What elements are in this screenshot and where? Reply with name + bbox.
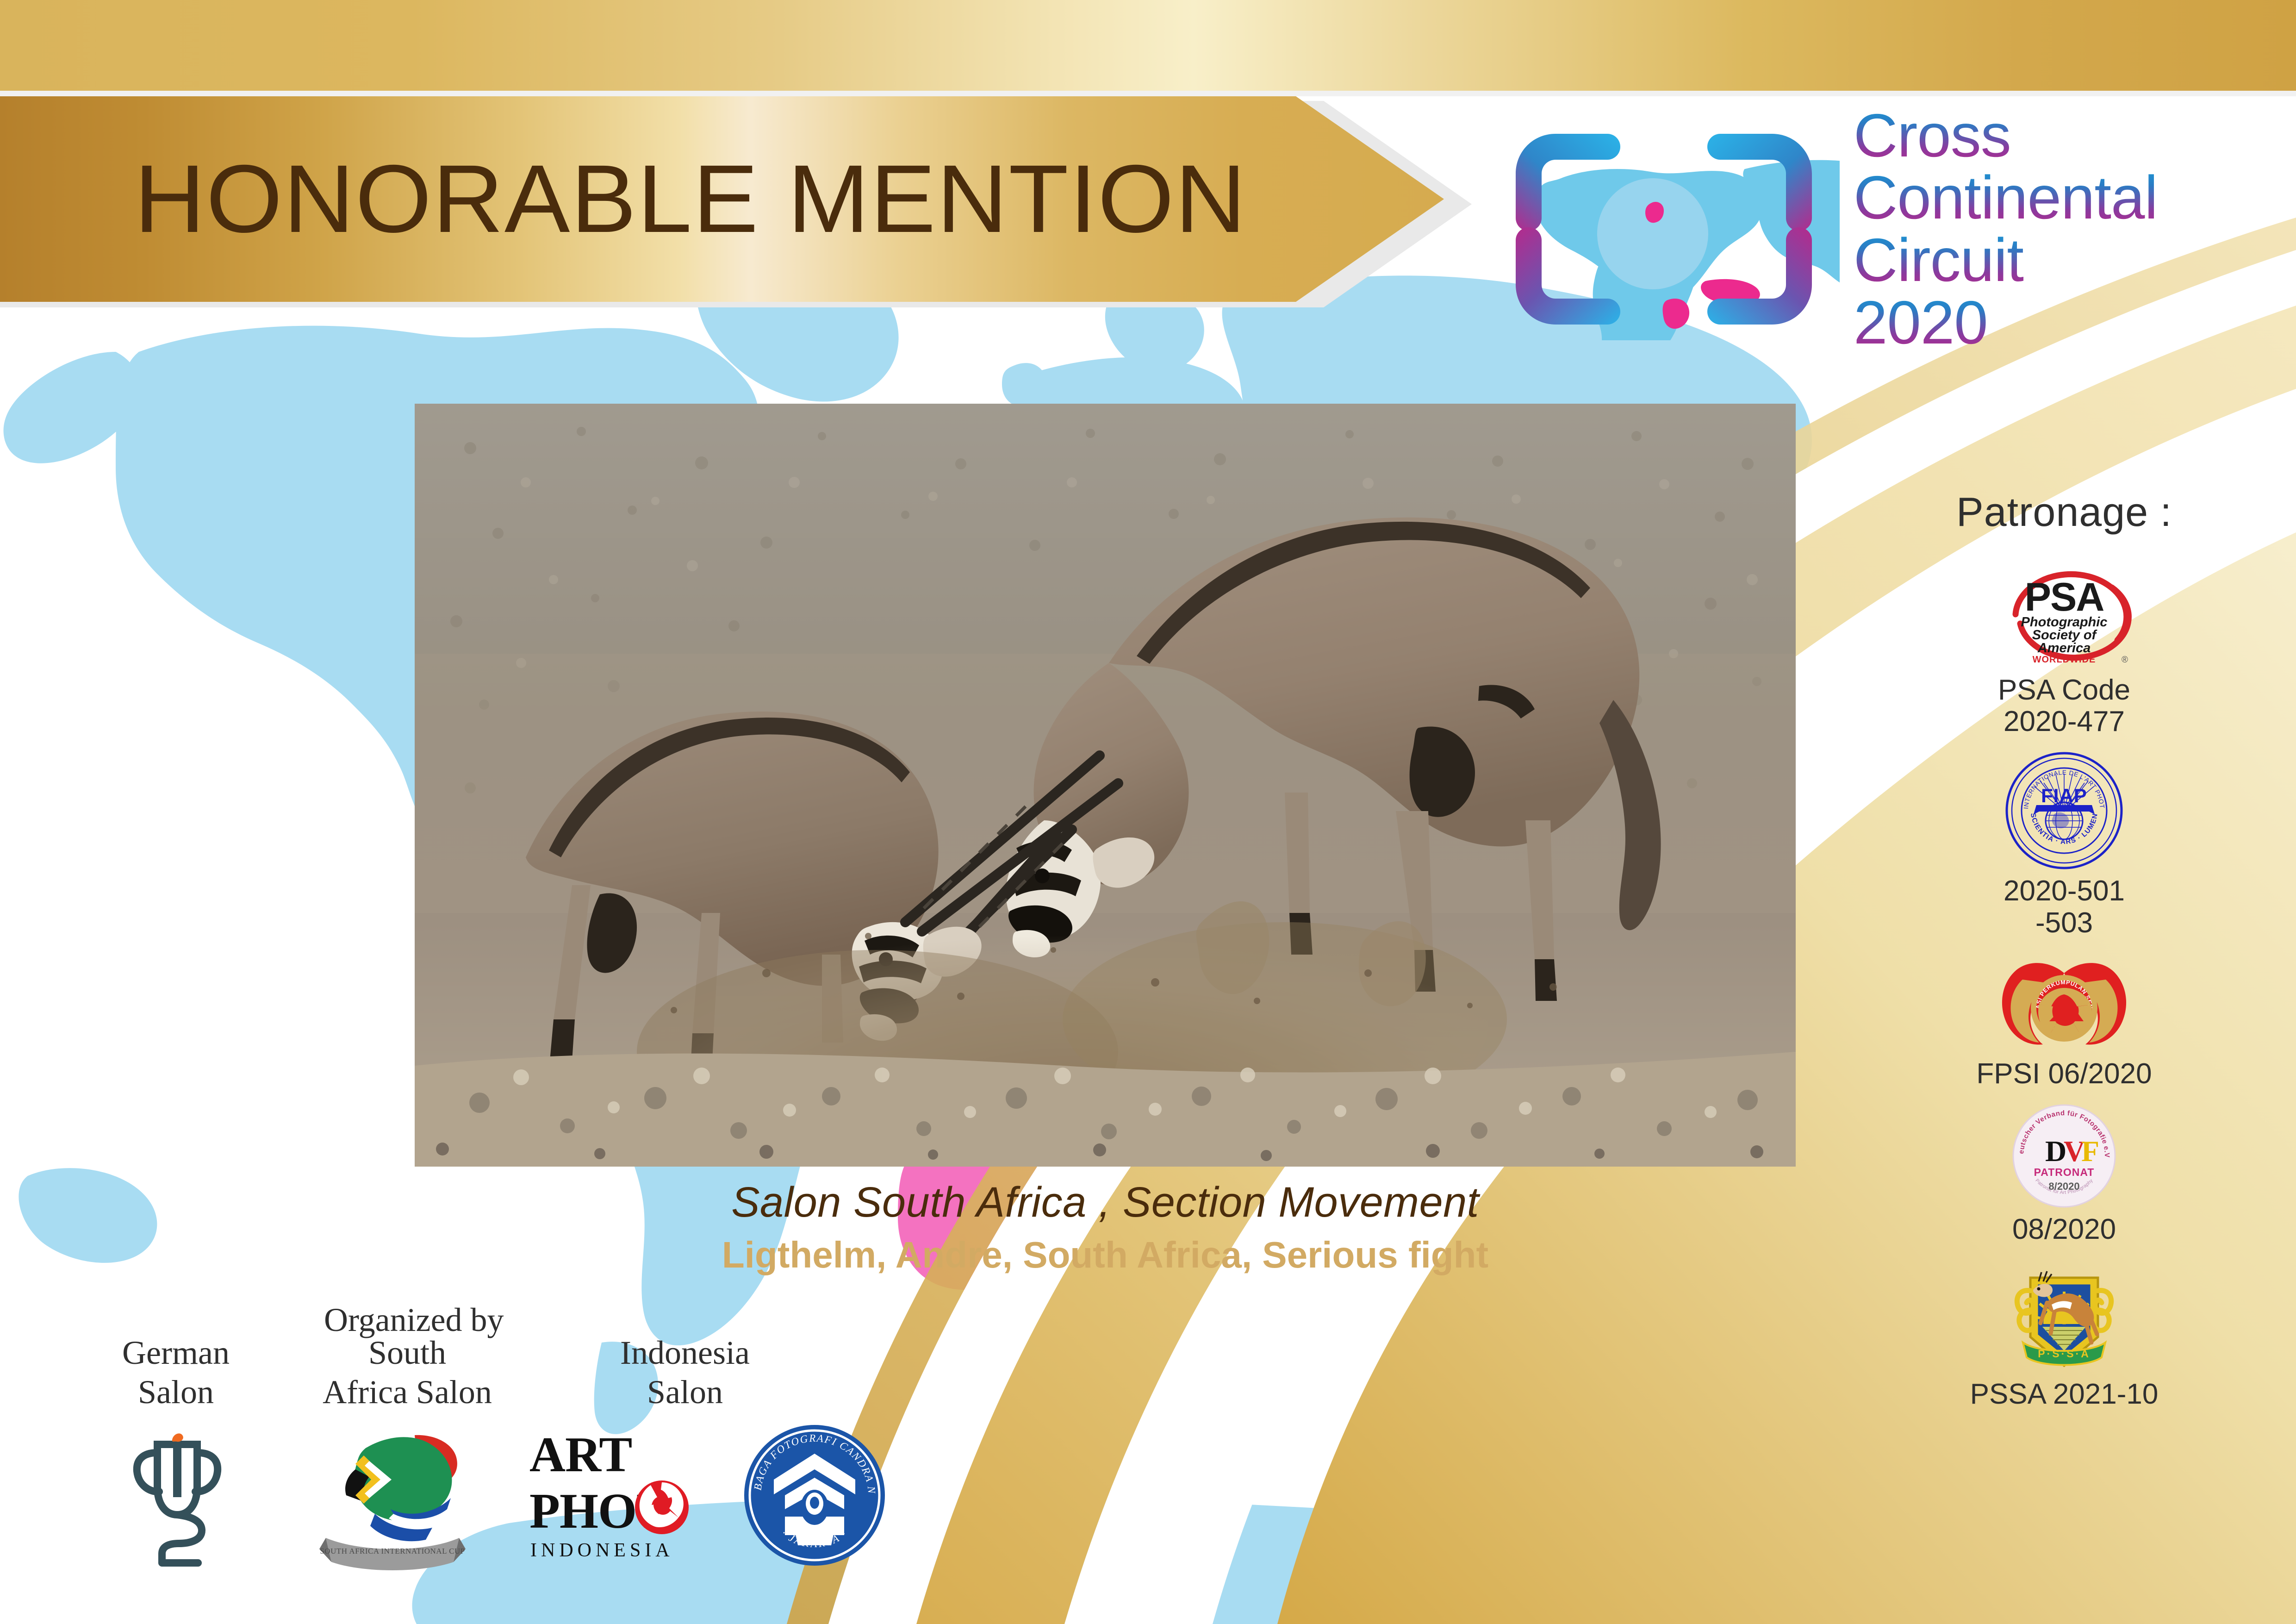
south-africa-flag-map-icon: SOUTH AFRICA INTERNATIONAL CUP bbox=[315, 1425, 467, 1580]
trophy-cup-icon bbox=[129, 1430, 226, 1572]
organizer-logos: SOUTH AFRICA INTERNATIONAL CUP ART PHOT bbox=[0, 0, 2296, 1624]
art-photo-indonesia-icon: ART PHOT INDONESIA bbox=[523, 1417, 717, 1572]
svg-text:INDONESIA: INDONESIA bbox=[530, 1540, 674, 1561]
svg-text:ART: ART bbox=[529, 1427, 632, 1482]
lembaga-fotografi-candra-naya-icon: LEMBAGA FOTOGRAFI CANDRA NAYA · JAKARTA … bbox=[740, 1421, 889, 1572]
certificate-page: HONORABLE MENTION bbox=[0, 0, 2296, 1624]
sa-banner-text: SOUTH AFRICA INTERNATIONAL CUP bbox=[320, 1547, 465, 1555]
